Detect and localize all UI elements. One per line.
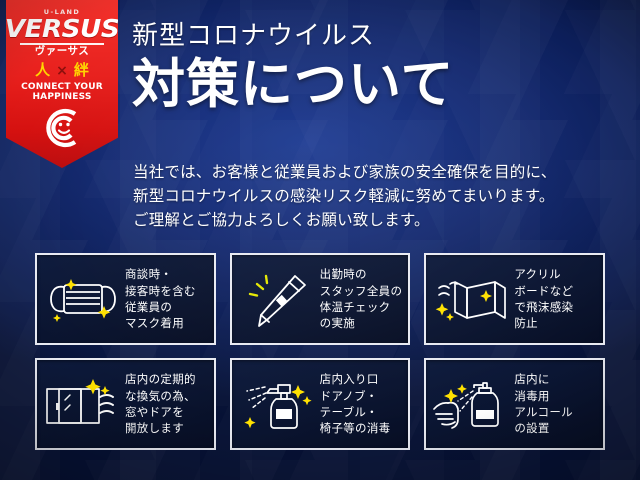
header-title: 対策について (132, 55, 632, 114)
logo-tagline-en-line1: CONNECT YOUR (6, 82, 118, 92)
header-block: 新型コロナウイルス 対策について (132, 22, 632, 114)
logo-tagline-cross: × (56, 63, 68, 79)
measure-card-disinfection-text: 店内入り口 ドアノブ・ テーブル・ 椅子等の消毒 (320, 371, 391, 436)
logo-tagline-en-line2: HAPPINESS (6, 92, 118, 102)
body-copy-line-2: 新型コロナウイルスの感染リスク軽減に努めてまいります。 (133, 184, 625, 208)
header-subtitle: 新型コロナウイルス (132, 22, 632, 51)
measure-card-temperature: 出勤時の スタッフ全員の 体温チェック の実施 (230, 253, 411, 345)
acrylic-board-icon (430, 263, 514, 335)
face-mask-icon (41, 263, 125, 335)
c-smiley-mark-icon (39, 105, 85, 151)
measure-card-sanitizer: 店内に 消毒用 アルコール の設置 (424, 358, 605, 450)
logo-tagline-en: CONNECT YOUR HAPPINESS (6, 82, 118, 102)
measure-card-acrylic-board: アクリル ボードなど で飛沫感染 防止 (424, 253, 605, 345)
body-copy-line-3: ご理解とご協力よろしくお願い致します。 (133, 208, 625, 232)
hand-sanitizer-icon (430, 368, 514, 440)
spray-bottle-icon (236, 368, 320, 440)
thermometer-icon (236, 263, 320, 335)
measure-card-disinfection: 店内入り口 ドアノブ・ テーブル・ 椅子等の消毒 (230, 358, 411, 450)
versus-logo-banner: U-LAND VERSUS ヴァーサス 人×絆 CONNECT YOUR HAP… (6, 0, 118, 168)
logo-tagline-jp: 人×絆 (6, 63, 118, 78)
body-copy: 当社では、お客様と従業員および家族の安全確保を目的に、 新型コロナウイルスの感染… (133, 160, 625, 232)
measure-card-acrylic-board-text: アクリル ボードなど で飛沫感染 防止 (514, 266, 573, 331)
body-copy-line-1: 当社では、お客様と従業員および家族の安全確保を目的に、 (133, 160, 625, 184)
measure-card-mask: 商談時・ 接客時を含む 従業員の マスク着用 (35, 253, 216, 345)
measures-grid: 商談時・ 接客時を含む 従業員の マスク着用 (35, 253, 605, 450)
logo-divider-rule (20, 43, 104, 45)
measure-card-temperature-text: 出勤時の スタッフ全員の 体温チェック の実施 (320, 266, 403, 331)
measure-card-mask-text: 商談時・ 接客時を含む 従業員の マスク着用 (125, 266, 196, 331)
logo-brand-name: VERSUS (3, 17, 121, 41)
logo-tagline-hito: 人 (35, 61, 50, 79)
logo-tagline-kizuna: 絆 (74, 61, 89, 79)
logo-brand-kana: ヴァーサス (6, 46, 118, 57)
window-ventilation-icon (41, 368, 125, 440)
measure-card-ventilation-text: 店内の定期的 な換気の為、 窓やドアを 開放します (125, 371, 196, 436)
measure-card-sanitizer-text: 店内に 消毒用 アルコール の設置 (514, 371, 573, 436)
measure-card-ventilation: 店内の定期的 な換気の為、 窓やドアを 開放します (35, 358, 216, 450)
covid-measures-poster: U-LAND VERSUS ヴァーサス 人×絆 CONNECT YOUR HAP… (0, 0, 640, 480)
